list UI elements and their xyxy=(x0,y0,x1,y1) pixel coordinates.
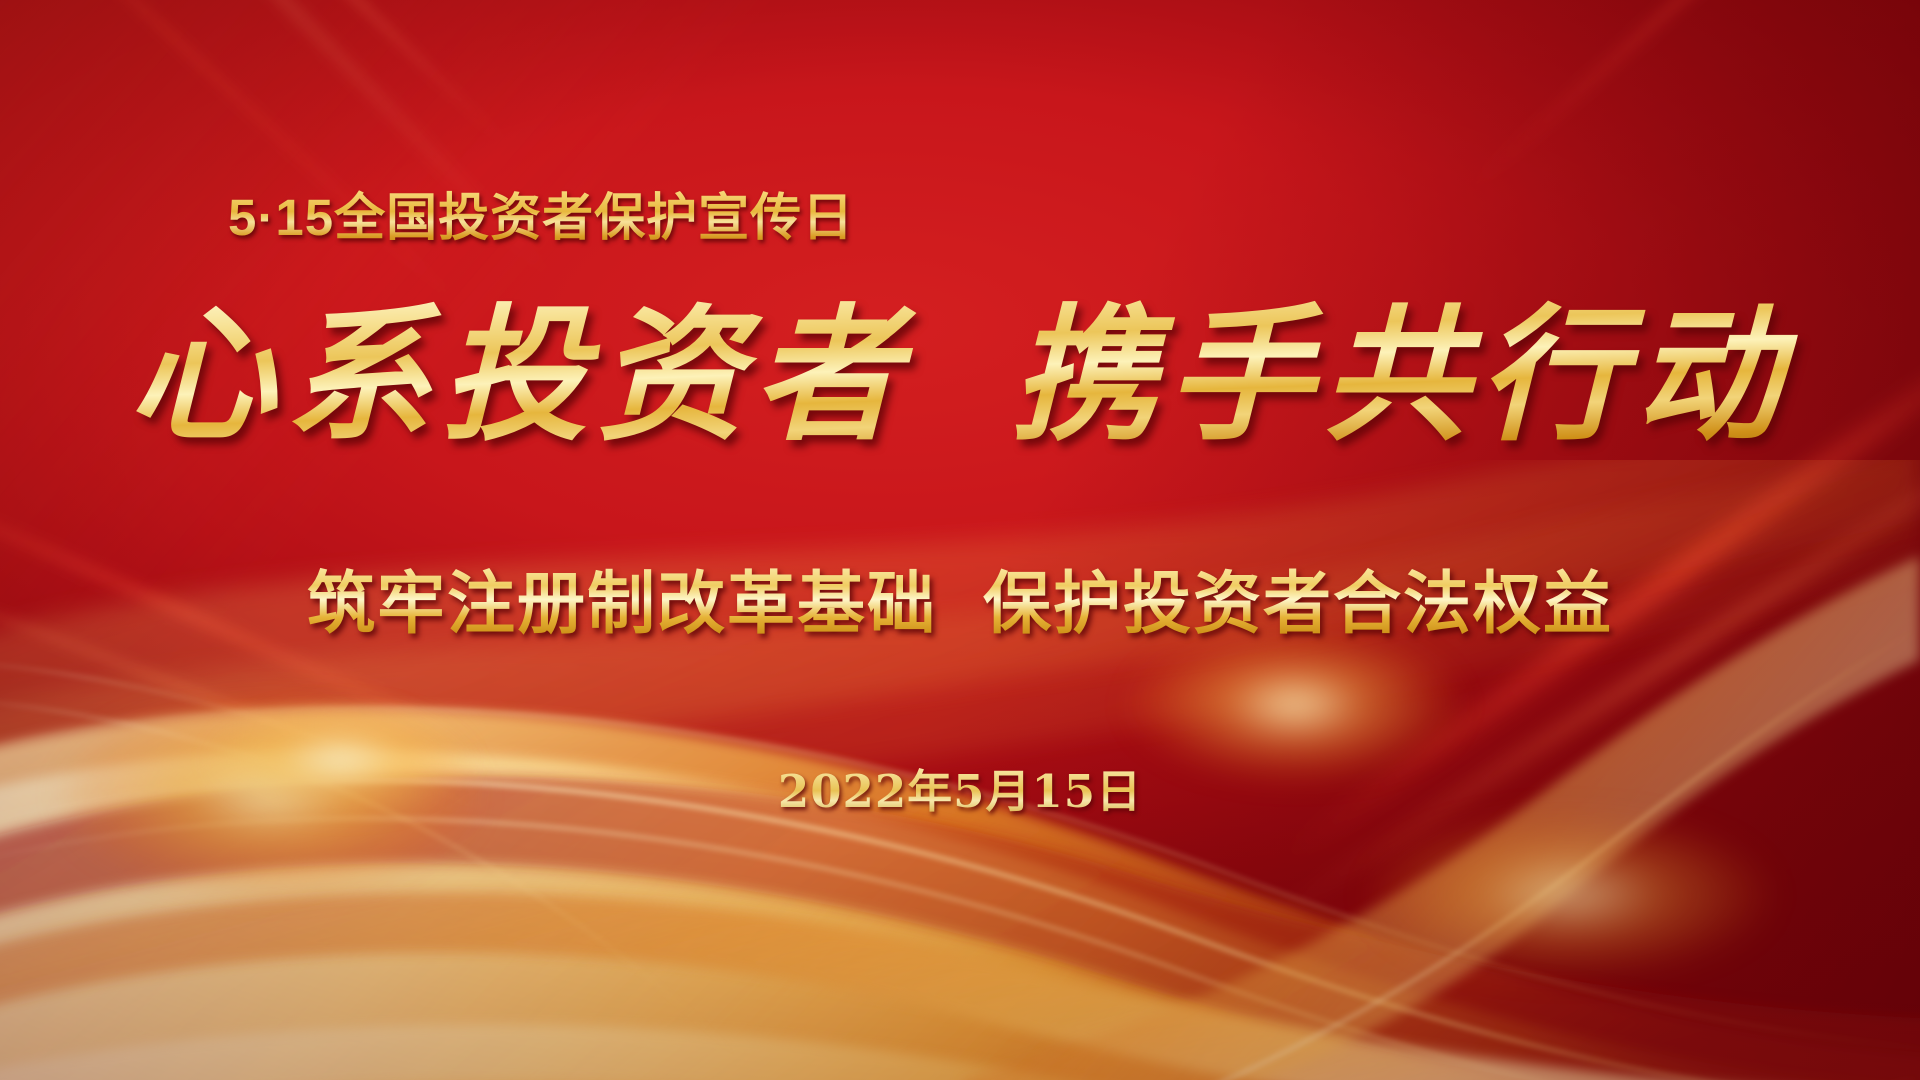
subheadline-part-right: 保护投资者合法权益 xyxy=(983,566,1613,642)
headline-part-left: 心系投资者 xyxy=(129,290,909,461)
headline-part-right: 携手共行动 xyxy=(1011,290,1791,461)
headline-gap xyxy=(909,290,1011,461)
poster-content: 5·15全国投资者保护宣传日 心系投资者 携手共行动 筑牢注册制改革基础保护投资… xyxy=(0,0,1920,1080)
eyebrow-title: 5·15全国投资者保护宣传日 xyxy=(228,176,854,250)
subheadline-part-left: 筑牢注册制改革基础 xyxy=(307,566,937,642)
subheadline: 筑牢注册制改革基础保护投资者合法权益 xyxy=(0,548,1920,647)
event-date: 2022年5月15日 xyxy=(0,755,1920,820)
headline: 心系投资者 携手共行动 xyxy=(0,300,1920,452)
poster-canvas: 5·15全国投资者保护宣传日 心系投资者 携手共行动 筑牢注册制改革基础保护投资… xyxy=(0,0,1920,1080)
